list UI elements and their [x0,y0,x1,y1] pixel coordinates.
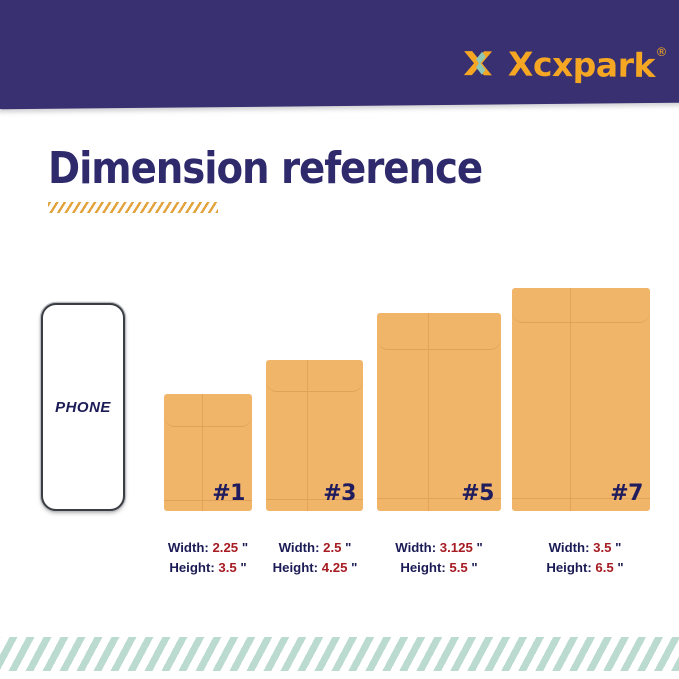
dimensions-envelope-3: Width: 2.5 " Height: 4.25 " [254,538,376,579]
envelope-7-height-unit: " [617,560,623,575]
envelope-1-number: #1 [212,481,245,506]
envelope-1-width-value: 2.25 [212,540,238,555]
envelope-1-width-line: Width: 2.25 " [148,538,268,558]
envelope-7: #7 [512,288,650,511]
envelope-5-height-key: Height: [400,560,445,575]
envelope-3: #3 [266,360,363,511]
envelope-7-flap [512,288,650,323]
envelope-3-width-key: Width: [279,540,320,555]
envelope-3-height-unit: " [351,560,357,575]
envelope-7-width-unit: " [615,540,621,555]
envelope-5-width-unit: " [476,540,482,555]
envelope-7-height-line: Height: 6.5 " [520,558,650,578]
size-comparison-diagram: PHONE #1 #3 #5 [0,0,679,679]
envelope-1-height-value: 3.5 [218,560,236,575]
envelope-1-height-unit: " [240,560,246,575]
envelope-5-seam [428,313,429,511]
envelope-3-width-unit: " [345,540,351,555]
envelope-5-height-unit: " [471,560,477,575]
envelope-1-flap [164,394,252,427]
envelope-5-height-value: 5.5 [449,560,467,575]
phone-reference: PHONE [41,303,125,511]
envelope-5: #5 [377,313,501,511]
envelope-7-height-key: Height: [546,560,591,575]
envelope-5-width-key: Width: [395,540,436,555]
envelope-3-height-value: 4.25 [322,560,348,575]
envelope-3-flap [266,360,363,392]
dimensions-envelope-5: Width: 3.125 " Height: 5.5 " [377,538,501,579]
envelope-1-height-line: Height: 3.5 " [148,558,268,578]
envelope-7-width-line: Width: 3.5 " [520,538,650,558]
envelope-1-width-unit: " [242,540,248,555]
infographic-page: Xcxpark ® Dimension reference PHONE #1 #… [0,0,679,679]
envelope-3-seam [307,360,308,511]
envelope-1-height-key: Height: [169,560,214,575]
envelope-5-width-value: 3.125 [440,540,473,555]
envelope-7-number: #7 [610,481,643,506]
phone-label: PHONE [55,399,111,416]
envelope-5-flap [377,313,501,350]
envelope-3-height-line: Height: 4.25 " [254,558,376,578]
envelope-1: #1 [164,394,252,511]
envelope-1-seam [202,394,203,511]
envelope-5-height-line: Height: 5.5 " [377,558,501,578]
envelope-7-height-value: 6.5 [595,560,613,575]
envelope-7-seam [570,288,571,511]
envelope-3-width-value: 2.5 [323,540,341,555]
envelope-1-width-key: Width: [168,540,209,555]
envelope-3-number: #3 [323,481,356,506]
dimensions-envelope-1: Width: 2.25 " Height: 3.5 " [148,538,268,579]
envelope-5-number: #5 [461,481,494,506]
envelope-3-width-line: Width: 2.5 " [254,538,376,558]
envelope-5-width-line: Width: 3.125 " [377,538,501,558]
envelope-7-width-key: Width: [549,540,590,555]
envelope-7-width-value: 3.5 [593,540,611,555]
envelope-3-height-key: Height: [273,560,318,575]
dimensions-envelope-7: Width: 3.5 " Height: 6.5 " [520,538,650,579]
footer-stripe-band [0,637,679,671]
